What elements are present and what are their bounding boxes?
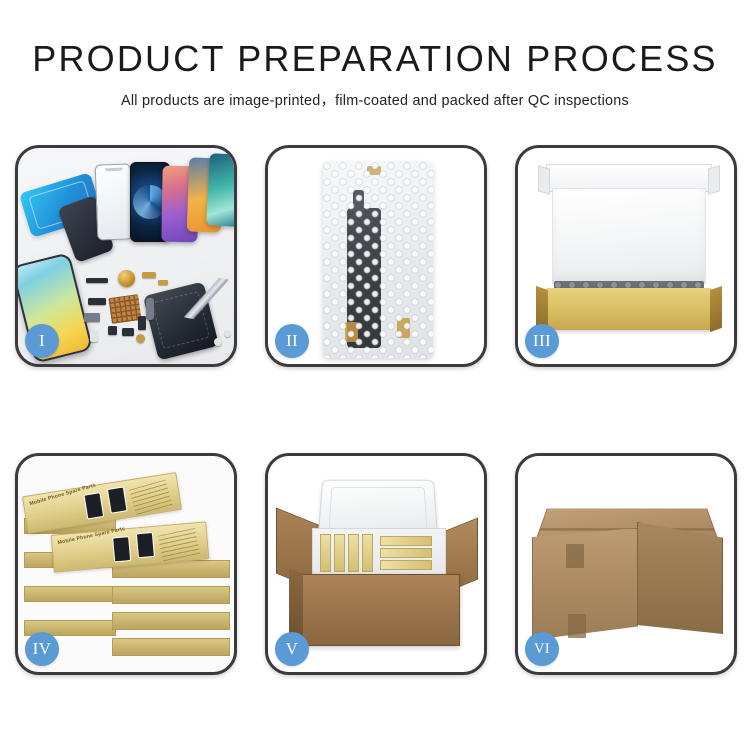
small-part-icon	[138, 316, 146, 330]
screw-icon	[224, 330, 231, 337]
teal-phone-icon	[206, 153, 234, 227]
yellow-box-icon	[380, 548, 432, 558]
box-edge	[112, 638, 230, 656]
step-panel-4[interactable]: Mobile Phone Spare Parts Mobile Phone Sp…	[15, 453, 237, 675]
yellow-box-front-icon	[546, 288, 712, 330]
box-window-icon	[83, 492, 104, 519]
step-badge-4: IV	[25, 632, 59, 666]
box-edge	[112, 586, 230, 604]
page-header: PRODUCT PREPARATION PROCESS All products…	[0, 0, 750, 110]
small-part-icon	[86, 278, 108, 283]
yellow-box-icon	[380, 560, 432, 570]
page-subtitle: All products are image-printed，film-coat…	[0, 89, 750, 110]
carton-front-icon	[300, 574, 460, 646]
yellow-box-icon	[334, 534, 345, 572]
bubble-wrap-bag-icon	[323, 162, 433, 358]
step-badge-2: II	[275, 324, 309, 358]
tweezers-icon	[184, 272, 234, 326]
step-panel-2[interactable]: II	[265, 145, 487, 367]
box-window-icon	[136, 532, 155, 558]
small-part-icon	[88, 298, 106, 305]
step-badge-6: VI	[525, 632, 559, 666]
small-part-icon	[84, 313, 100, 322]
yellow-box-icon	[380, 536, 432, 546]
small-part-icon	[158, 280, 168, 285]
small-part-icon	[142, 272, 156, 278]
chip-grid-icon	[108, 294, 141, 324]
flex-cable-icon	[146, 298, 154, 320]
camera-lens-icon	[118, 270, 135, 287]
box-spec-lines	[158, 528, 201, 561]
yellow-box-icon	[320, 534, 331, 572]
page-title: PRODUCT PREPARATION PROCESS	[0, 40, 750, 78]
small-part-icon	[108, 326, 117, 335]
small-part-icon	[122, 328, 134, 336]
step-badge-5: V	[275, 632, 309, 666]
step-badge-3: III	[525, 324, 559, 358]
carton-tape-icon	[568, 614, 586, 638]
bubble-texture	[323, 162, 433, 358]
step-panel-6[interactable]: VI	[515, 453, 737, 675]
step-panel-5[interactable]: V	[265, 453, 487, 675]
box-stack-icon: Mobile Phone Spare Parts Mobile Phone Sp…	[24, 474, 232, 662]
white-foam-sheet-icon	[552, 188, 706, 284]
screw-icon	[214, 338, 222, 346]
process-step-grid: I II III	[15, 145, 735, 675]
box-edge	[112, 612, 230, 630]
carton-tape-icon	[566, 544, 584, 568]
box-spec-lines	[129, 480, 173, 515]
tempered-glass-icon	[95, 163, 134, 240]
small-part-icon	[136, 334, 145, 343]
box-window-icon	[112, 536, 131, 562]
step-badge-1: I	[25, 324, 59, 358]
small-part-icon	[90, 330, 98, 342]
step-panel-3[interactable]: III	[515, 145, 737, 367]
yellow-box-icon	[362, 534, 373, 572]
carton-right-face-icon	[637, 522, 723, 634]
yellow-box-icon	[348, 534, 359, 572]
box-window-icon	[107, 486, 128, 513]
step-panel-1[interactable]: I	[15, 145, 237, 367]
box-edge	[24, 586, 116, 602]
